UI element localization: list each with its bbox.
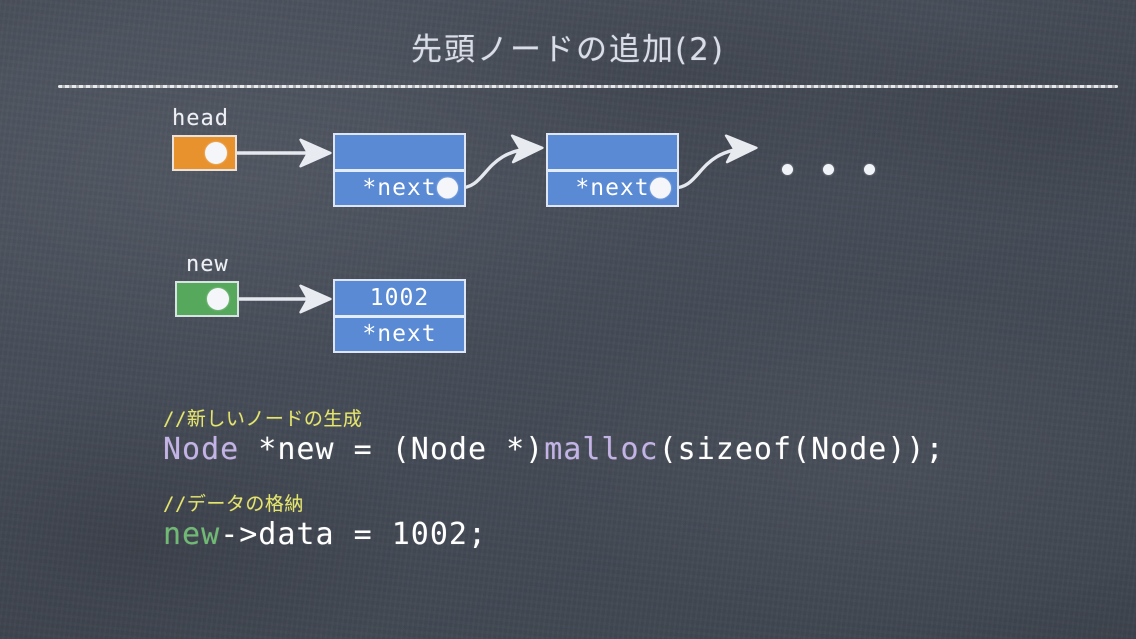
code-statement-2: //データの格納 new->data = 1002; [163, 489, 945, 552]
code-token-sizeof: (sizeof(Node)); [659, 432, 945, 467]
code-token-node-type: Node [163, 432, 239, 467]
code-comment-1: //新しいノードの生成 [163, 404, 945, 431]
ellipsis-dot-2 [823, 164, 834, 175]
head-pointer-dot [205, 142, 227, 164]
list-node-1-data [335, 135, 464, 169]
new-pointer-dot [207, 288, 229, 310]
list-node-1-next-label: *next [362, 175, 436, 201]
code-line-2: new->data = 1002; [163, 517, 945, 552]
new-label: new [186, 252, 229, 277]
arrow-node1-to-node2 [459, 148, 537, 188]
head-label: head [172, 106, 229, 131]
title-divider [58, 85, 1118, 88]
new-node-next: *next [335, 315, 464, 352]
head-pointer-box [172, 135, 237, 171]
code-comment-2: //データの格納 [163, 489, 945, 516]
new-node: 1002 *next [333, 279, 466, 353]
slide-canvas: 先頭ノードの追加(2) head *next [0, 0, 1136, 639]
list-node-2-next: *next [548, 169, 677, 206]
list-node-2-next-dot [650, 178, 671, 199]
code-statement-1: //新しいノードの生成 Node *new = (Node *)malloc(s… [163, 404, 945, 467]
ellipsis-dots [782, 164, 875, 175]
list-node-1-next: *next [335, 169, 464, 206]
list-node-2-next-label: *next [575, 175, 649, 201]
page-title: 先頭ノードの追加(2) [0, 24, 1136, 69]
code-token-assign-2: ->data = 1002; [220, 517, 487, 552]
ellipsis-dot-3 [864, 164, 875, 175]
code-token-malloc: malloc [544, 432, 658, 467]
new-pointer-box [175, 281, 239, 317]
list-node-2-data [548, 135, 677, 169]
arrow-node2-to-ellipsis [673, 148, 751, 188]
code-token-assign-1: *new = (Node *) [239, 432, 544, 467]
code-token-new-var: new [163, 517, 220, 552]
list-node-2: *next [546, 133, 679, 207]
list-node-1-next-dot [437, 178, 458, 199]
ellipsis-dot-1 [782, 164, 793, 175]
code-block: //新しいノードの生成 Node *new = (Node *)malloc(s… [163, 404, 945, 574]
code-line-1: Node *new = (Node *)malloc(sizeof(Node))… [163, 432, 945, 467]
list-node-1: *next [333, 133, 466, 207]
new-node-data: 1002 [335, 281, 464, 315]
